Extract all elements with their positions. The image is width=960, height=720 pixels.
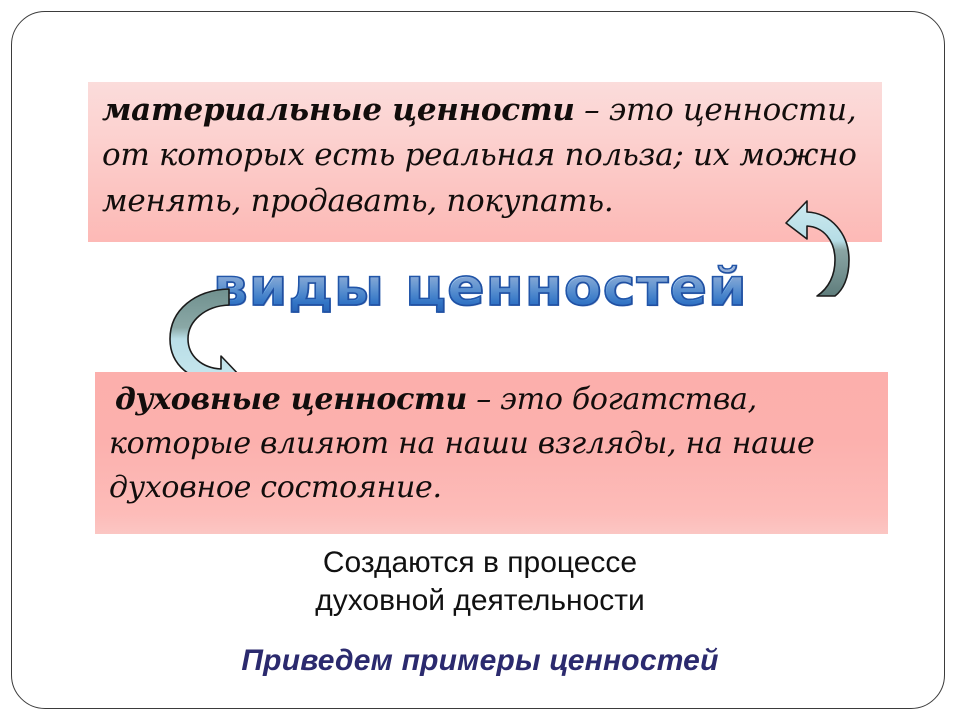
definition-line: духовные ценности – это богатства, xyxy=(109,378,874,422)
curved-arrow-up-left-icon xyxy=(773,190,859,302)
definition-line: духовное состояние. xyxy=(109,466,874,510)
definition-line-rest: от которых есть реальная польза; их можн… xyxy=(102,137,857,173)
slide-canvas: материальные ценности – это ценности, от… xyxy=(0,0,960,720)
caption-creation-process-line-2: духовной деятельности xyxy=(0,582,960,620)
definition-line-rest: менять, продавать, покупать. xyxy=(102,183,613,219)
definition-box-material-values: материальные ценности – это ценности, от… xyxy=(88,82,882,242)
definition-line-rest: духовное состояние. xyxy=(109,470,442,505)
definition-line: от которых есть реальная польза; их можн… xyxy=(102,133,868,178)
definition-line: которые влияют на наши взгляды, на наше xyxy=(109,422,874,466)
page-title-text: виды ценностей xyxy=(213,262,748,314)
definition-box-spiritual-values: духовные ценности – это богатства, котор… xyxy=(95,372,888,534)
definition-line: менять, продавать, покупать. xyxy=(102,179,868,224)
caption-examples-prompt: Приведем примеры ценностей xyxy=(0,644,960,678)
definition-line-rest: – это ценности, xyxy=(575,92,857,128)
definition-lead-term: духовные ценности xyxy=(115,382,467,417)
caption-creation-process: Создаются в процессе духовной деятельнос… xyxy=(0,544,960,621)
definition-line-rest: – это богатства, xyxy=(467,382,757,417)
definition-line: материальные ценности – это ценности, xyxy=(102,88,868,133)
caption-creation-process-line-1: Создаются в процессе xyxy=(0,544,960,582)
definition-lead-term: материальные ценности xyxy=(102,92,575,128)
definition-line-rest: которые влияют на наши взгляды, на наше xyxy=(109,426,814,461)
